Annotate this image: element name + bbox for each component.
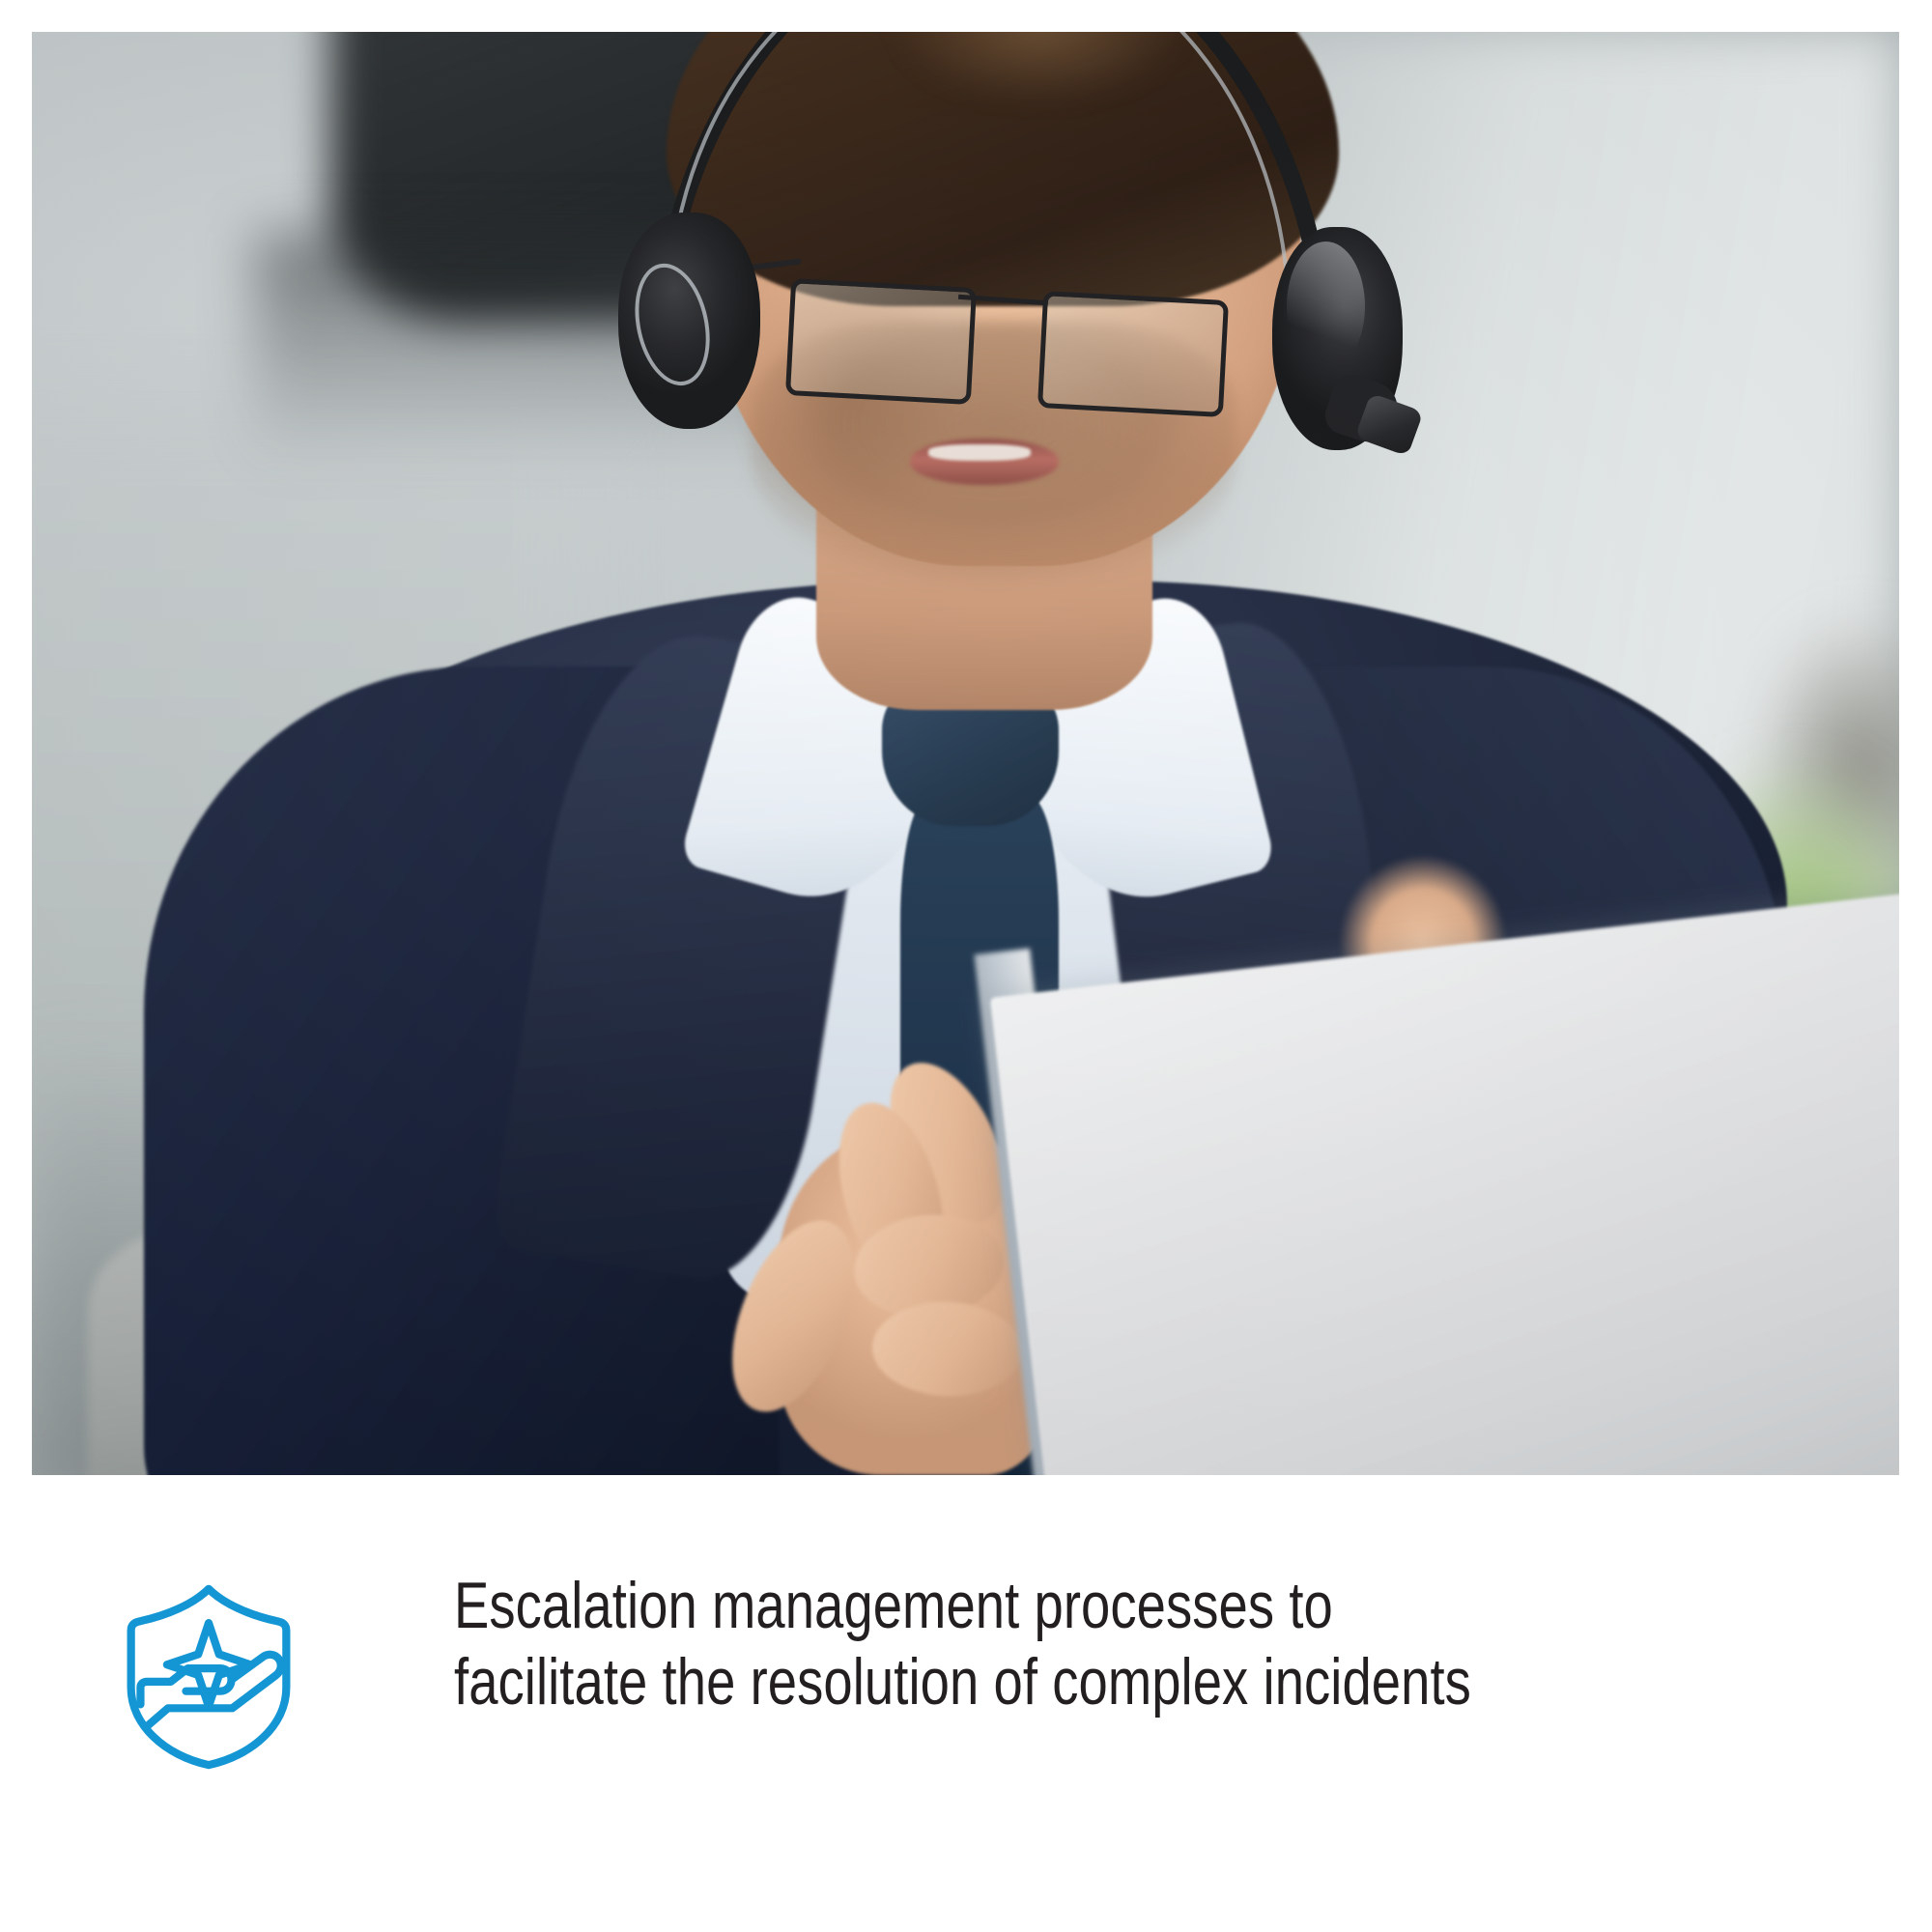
caption-area: Escalation management processes to facil… [0, 1475, 1932, 1932]
feature-caption-text: Escalation management processes to facil… [454, 1568, 1482, 1720]
teeth [928, 444, 1031, 460]
feature-card: Escalation management processes to facil… [0, 0, 1932, 1932]
hero-photo [32, 32, 1899, 1475]
headset-earcup-right-highlight [1287, 241, 1365, 371]
shield-outline [131, 1589, 287, 1765]
headset-headband-highlight [667, 32, 1291, 320]
shield-hand-sparkle-icon [114, 1581, 303, 1771]
